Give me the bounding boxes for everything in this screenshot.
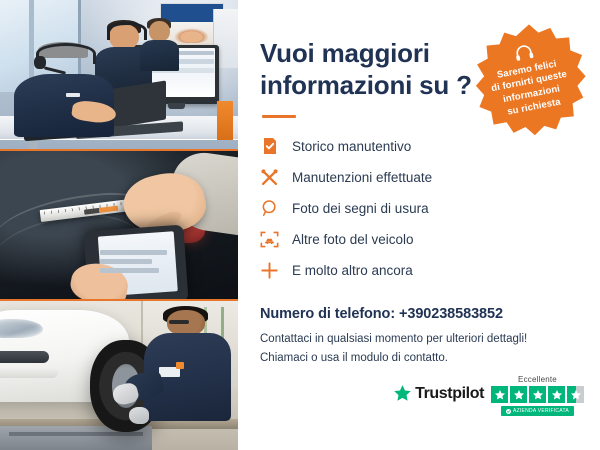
photo-column bbox=[0, 0, 238, 450]
page-title: Vuoi maggiori informazioni su ? bbox=[260, 38, 475, 101]
list-item: Altre foto del veicolo bbox=[260, 225, 578, 253]
trustpilot-star-icon bbox=[393, 384, 412, 403]
tablet-content-row bbox=[100, 259, 152, 263]
uniform-logo-dot bbox=[176, 362, 184, 369]
phone-number[interactable]: +390238583852 bbox=[399, 306, 503, 322]
orange-equipment bbox=[217, 101, 234, 140]
document-check-icon bbox=[260, 137, 279, 156]
content-panel: Vuoi maggiori informazioni su ? Saremo f… bbox=[238, 0, 600, 450]
feature-label: Manutenzioni effettuate bbox=[292, 170, 432, 185]
tools-cross-icon bbox=[260, 168, 279, 187]
feature-label: Foto dei segni di usura bbox=[292, 201, 429, 216]
list-item: Manutenzioni effettuate bbox=[260, 163, 578, 191]
list-item: Foto dei segni di usura bbox=[260, 194, 578, 222]
feature-list: Storico manutentivo Manutenzioni effettu… bbox=[260, 132, 578, 284]
mechanic-wheel-photo bbox=[0, 299, 238, 450]
star-filled bbox=[529, 386, 546, 403]
front-grille bbox=[0, 351, 49, 363]
head bbox=[149, 21, 170, 42]
contact-line-2: Chiamaci o usa il modulo di contatto. bbox=[260, 350, 578, 368]
tablet-content-row bbox=[100, 268, 160, 272]
star-filled bbox=[510, 386, 527, 403]
headline-line-2: informazioni su ? bbox=[260, 70, 472, 100]
front-bumper bbox=[0, 367, 58, 378]
trustpilot-wordmark: Trustpilot bbox=[415, 385, 484, 403]
headset-icon bbox=[513, 43, 535, 63]
star-rating bbox=[491, 386, 584, 403]
star-partial bbox=[567, 386, 584, 403]
verified-business-badge: AZIENDA VERIFICATA bbox=[501, 406, 574, 416]
tablet-content-row bbox=[100, 250, 167, 254]
magnifier-icon bbox=[260, 199, 279, 218]
request-info-badge: Saremo felici di fornirti queste informa… bbox=[470, 22, 588, 140]
rating-word: Eccellente bbox=[518, 375, 557, 384]
call-center-agents-photo bbox=[0, 0, 238, 149]
verified-label: AZIENDA VERIFICATA bbox=[513, 408, 569, 414]
trustpilot-widget[interactable]: Trustpilot Eccellente bbox=[393, 375, 584, 416]
torso bbox=[140, 40, 179, 71]
star-filled bbox=[491, 386, 508, 403]
phone-number-line[interactable]: Numero di telefono: +390238583852 bbox=[260, 306, 578, 322]
contact-instructions: Contattaci in qualsiasi momento per ulte… bbox=[260, 331, 578, 368]
badge-text: Saremo felici di fornirti queste informa… bbox=[488, 57, 573, 121]
car-scan-icon bbox=[260, 230, 279, 249]
trustpilot-rating: Eccellente bbox=[491, 375, 584, 416]
vehicle-info-ad-card: Vuoi maggiori informazioni su ? Saremo f… bbox=[0, 0, 600, 450]
uniform-patch bbox=[159, 367, 180, 377]
headlight bbox=[0, 319, 43, 337]
feature-label: Altre foto del veicolo bbox=[292, 232, 414, 247]
safety-glasses-icon bbox=[169, 320, 190, 324]
agent-background-3 bbox=[138, 21, 181, 72]
check-circle-icon bbox=[506, 409, 511, 414]
feature-label: Storico manutentivo bbox=[292, 139, 411, 154]
contact-line-1: Contattaci in qualsiasi momento per ulte… bbox=[260, 331, 578, 349]
list-item: E molto altro ancora bbox=[260, 256, 578, 284]
headline-line-1: Vuoi maggiori bbox=[260, 38, 430, 68]
agent-foreground bbox=[14, 45, 114, 137]
star-filled bbox=[548, 386, 565, 403]
work-glove bbox=[129, 407, 150, 424]
plus-icon bbox=[260, 261, 279, 280]
mechanic-figure bbox=[138, 307, 233, 450]
badge-content: Saremo felici di fornirti queste informa… bbox=[460, 12, 598, 150]
vehicle-inspection-photo bbox=[0, 149, 238, 300]
uniform-badge bbox=[66, 93, 80, 98]
title-divider bbox=[262, 115, 296, 118]
feature-label: E molto altro ancora bbox=[292, 263, 413, 278]
phone-label: Numero di telefono: bbox=[260, 306, 395, 322]
trustpilot-brand: Trustpilot bbox=[393, 384, 484, 403]
